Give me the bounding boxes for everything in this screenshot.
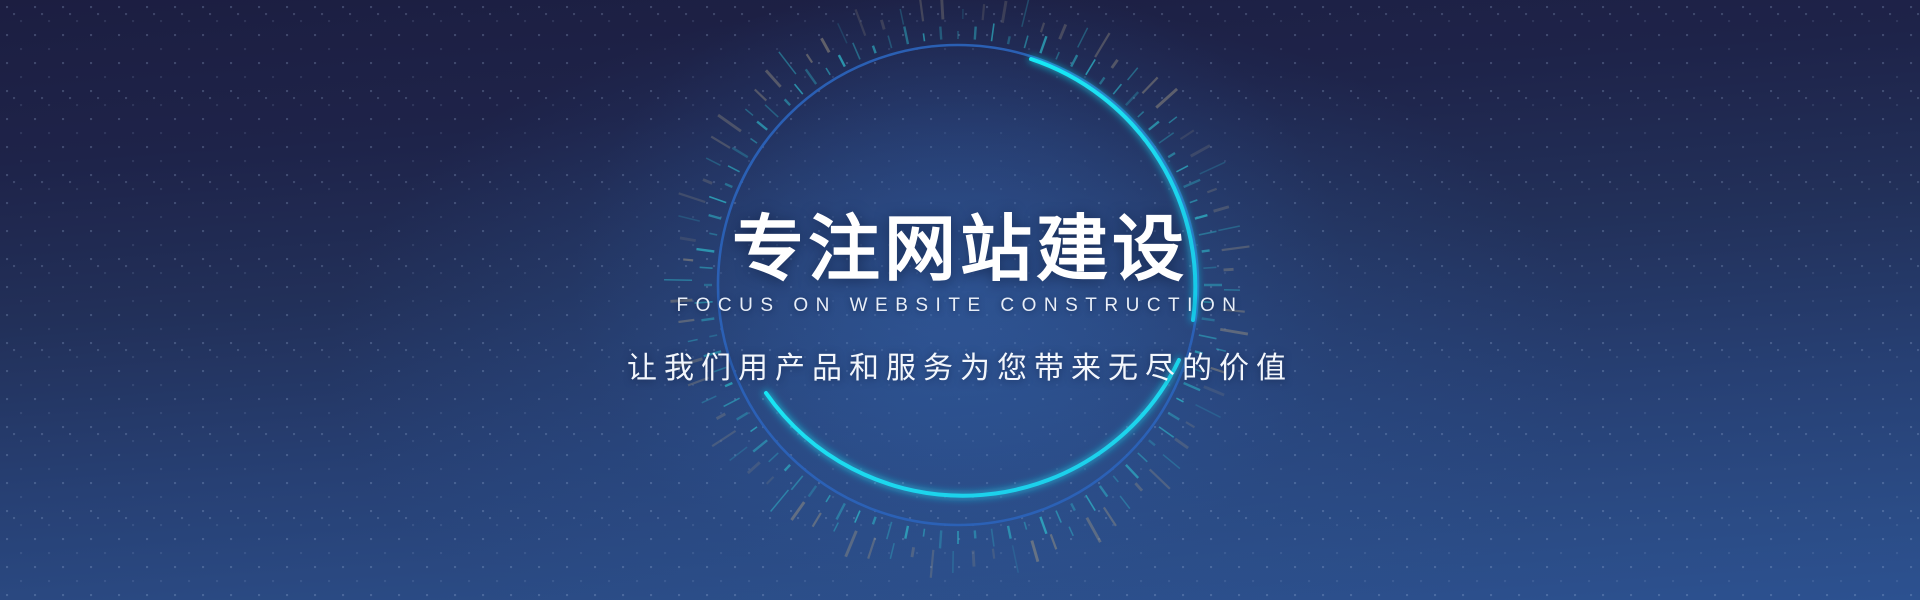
banner-copy: 专注网站建设 FOCUS ON WEBSITE CONSTRUCTION 让我们… [0, 0, 1920, 600]
banner-title: 专注网站建设 [732, 213, 1188, 285]
banner-subtitle: FOCUS ON WEBSITE CONSTRUCTION [677, 295, 1244, 317]
hero-banner: 专注网站建设 FOCUS ON WEBSITE CONSTRUCTION 让我们… [0, 0, 1920, 600]
banner-tagline: 让我们用产品和服务为您带来无尽的价值 [627, 343, 1293, 387]
